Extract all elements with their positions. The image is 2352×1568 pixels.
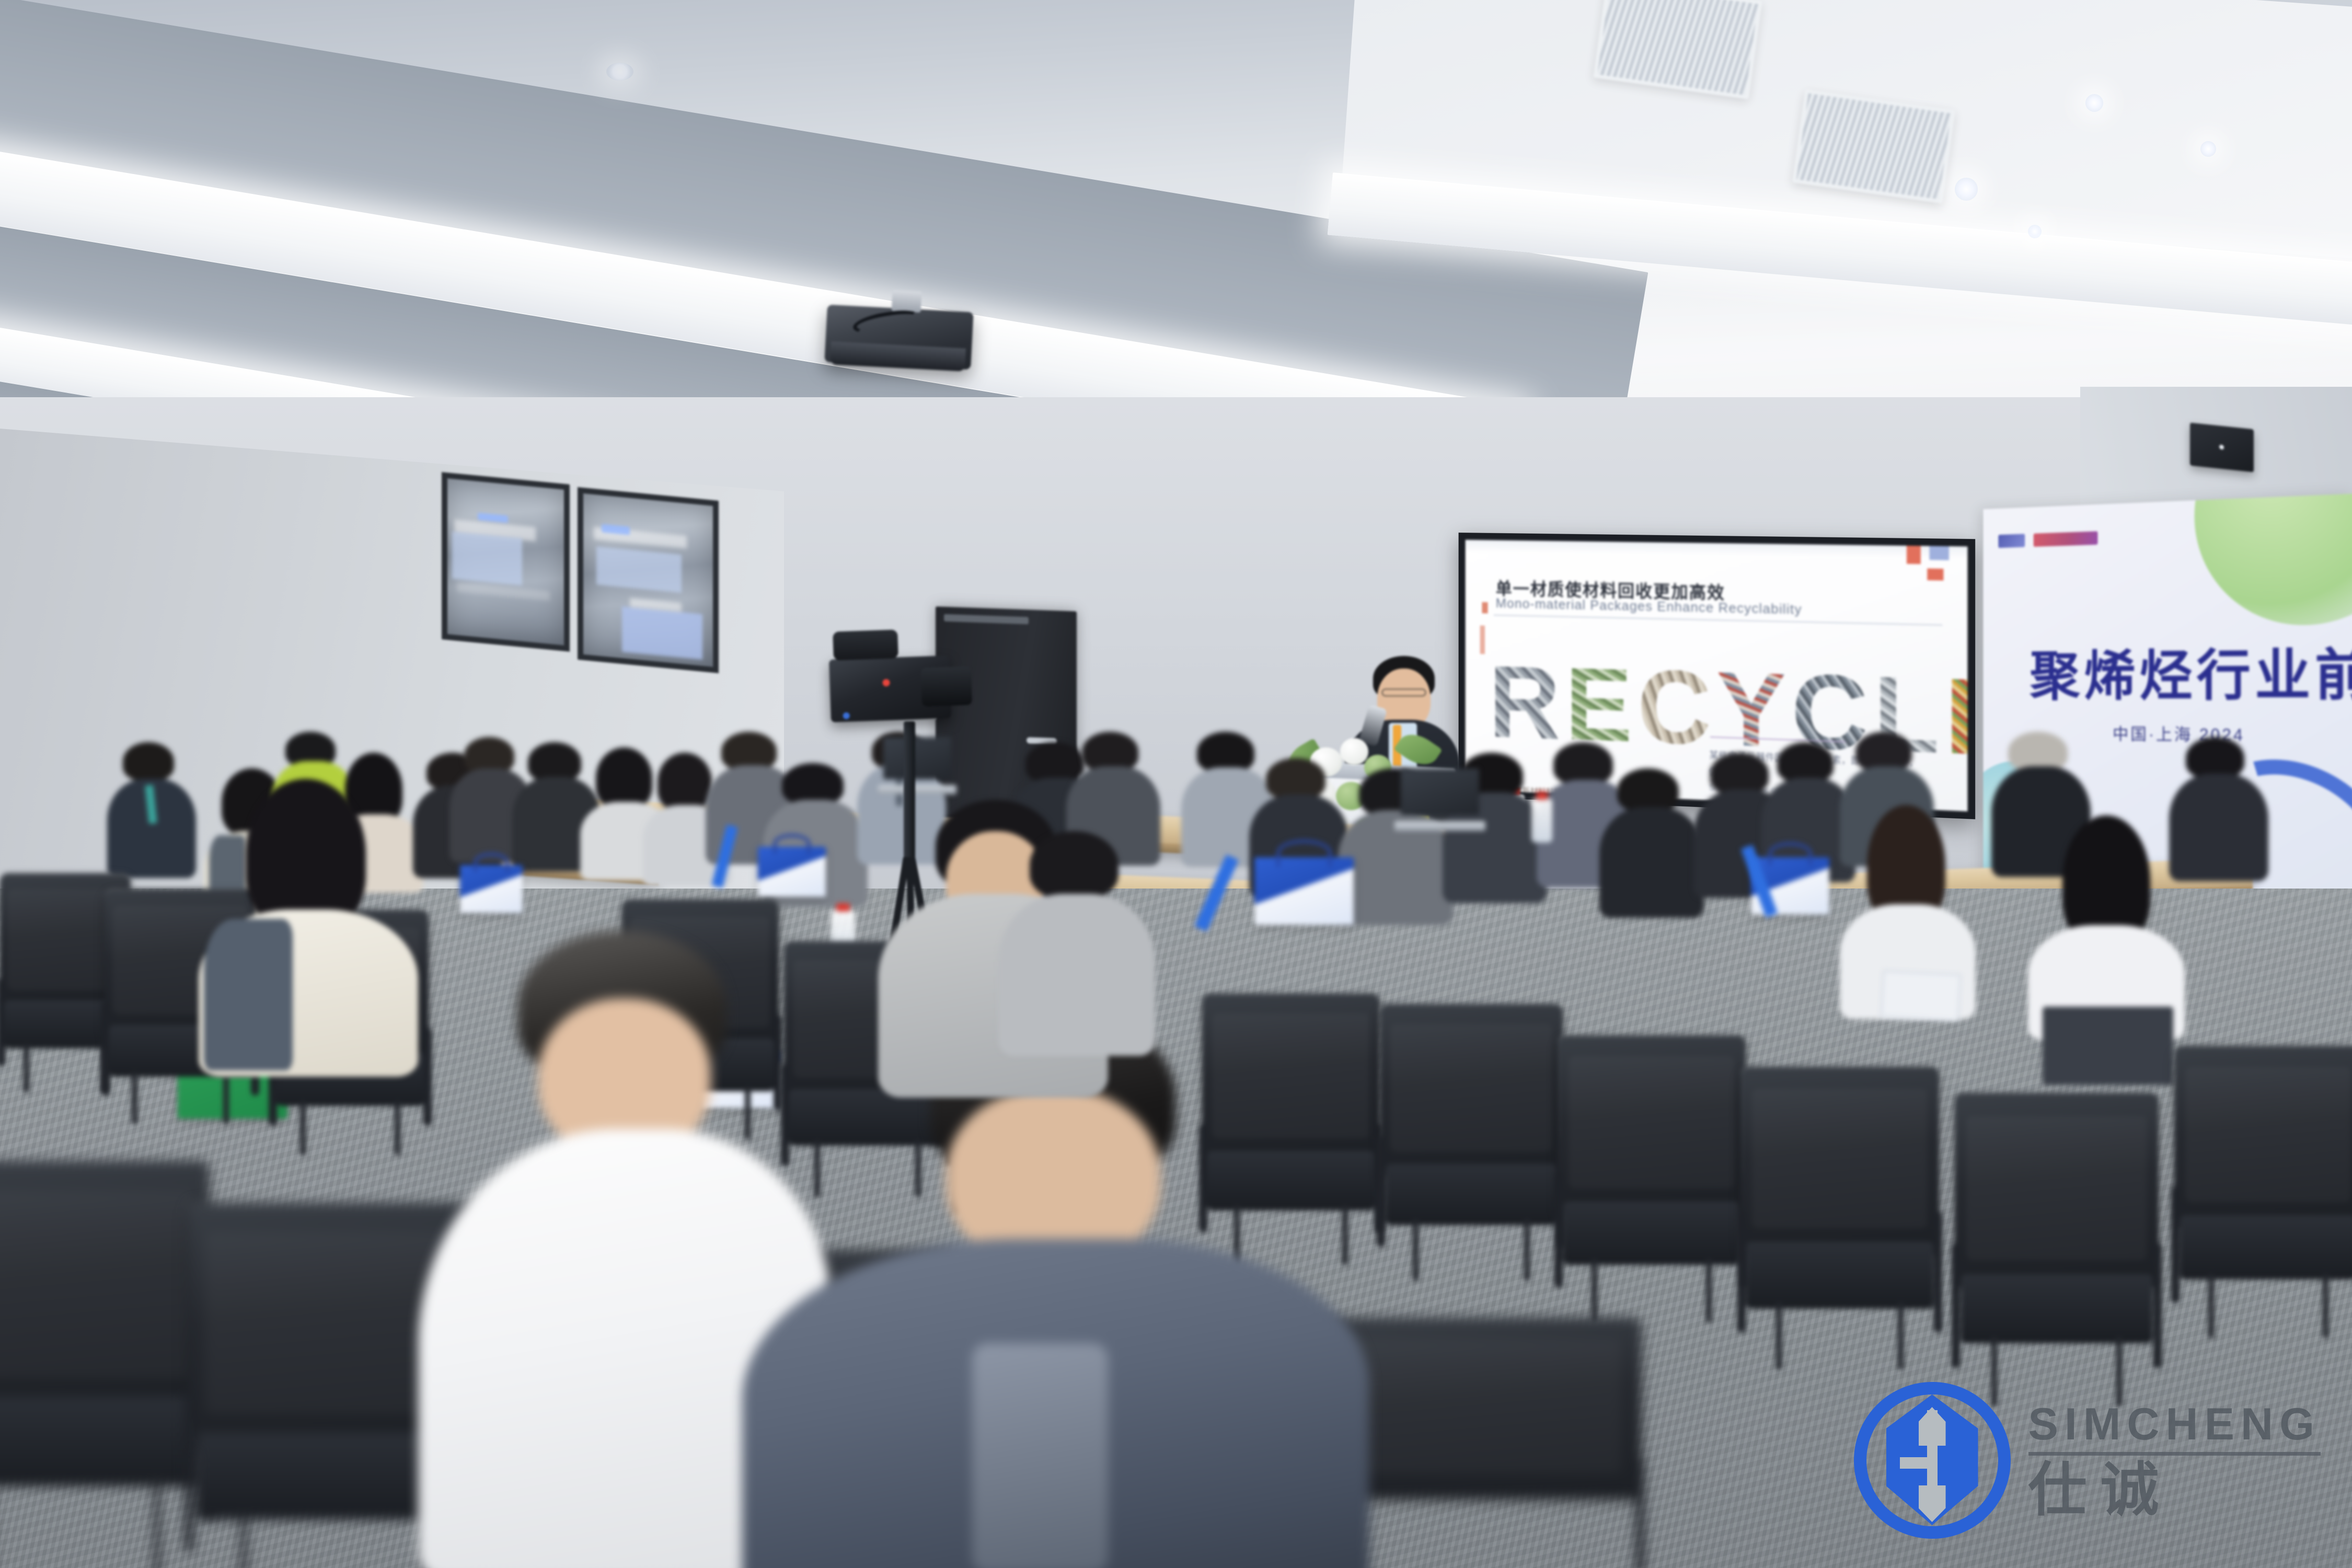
slide-accent-bar <box>1480 626 1485 654</box>
water-bottle <box>1531 799 1552 843</box>
tote-bag <box>1254 857 1354 925</box>
downlight-icon <box>2085 94 2103 112</box>
chair <box>1380 1004 1563 1281</box>
slide-corner-accent <box>1929 546 1949 560</box>
laptop <box>1401 768 1479 831</box>
downlight-icon <box>606 63 633 80</box>
slide-accent-bar <box>1482 602 1488 614</box>
watermark-brand-cn: 仕诚 <box>2028 1461 2321 1519</box>
chair <box>1558 1035 1746 1322</box>
interior-window <box>442 472 570 652</box>
audience-member <box>2028 815 2185 1035</box>
skirt <box>2043 1007 2173 1085</box>
slide-divider <box>1494 615 1943 626</box>
chair <box>1740 1066 1939 1369</box>
backpack <box>204 919 293 1070</box>
video-camera <box>829 655 951 722</box>
audience-member <box>1599 768 1704 915</box>
glasses-icon <box>1381 688 1426 697</box>
slide-corner-accent <box>1927 569 1943 581</box>
downlight-icon <box>2200 141 2216 157</box>
conference-room-photo: 单一材质使材料回收更加高效 Mono-material Packages Enh… <box>0 0 2352 1568</box>
tote-bag <box>460 865 523 913</box>
attendee-head <box>946 1087 1160 1265</box>
slide-corner-accent <box>1907 546 1921 564</box>
sponsor-logo-icon <box>1998 534 2025 548</box>
event-logo-icon <box>2034 531 2098 547</box>
watermark: SIMCHENG 仕诚 <box>1854 1382 2321 1539</box>
audience-member <box>998 831 1155 1051</box>
simcheng-logo-icon <box>1854 1382 2011 1539</box>
watermark-brand-en: SIMCHENG <box>2028 1402 2321 1447</box>
banner-title: 聚烯烃行业前沿 <box>2030 628 2352 711</box>
slide-title-en: Mono-material Packages Enhance Recyclabi… <box>1496 595 1802 618</box>
banner-blob-icon <box>2195 494 2352 627</box>
foreground-attendee <box>460 930 784 1568</box>
notebook <box>1881 970 1962 1021</box>
hero-letter: C <box>1638 657 1712 758</box>
hero-letter: E <box>1945 665 1968 770</box>
chair <box>2174 1045 2352 1338</box>
long-hair <box>246 779 366 930</box>
chair <box>1955 1092 2159 1406</box>
chair <box>0 1160 209 1568</box>
banner-logo-row <box>1998 531 2097 548</box>
watermark-divider <box>2028 1452 2321 1456</box>
projector-icon <box>824 305 973 370</box>
hero-letter: R <box>1489 653 1561 753</box>
audience-member <box>199 779 418 1071</box>
audience-member <box>107 742 196 873</box>
interior-window <box>578 487 719 673</box>
downlight-icon <box>1955 178 1978 201</box>
wall-speaker-icon <box>2190 423 2254 472</box>
tote-bag <box>758 847 826 897</box>
downlight-icon <box>2028 225 2042 238</box>
hero-letter: E <box>1565 655 1632 756</box>
attendee-collar <box>972 1343 1108 1568</box>
